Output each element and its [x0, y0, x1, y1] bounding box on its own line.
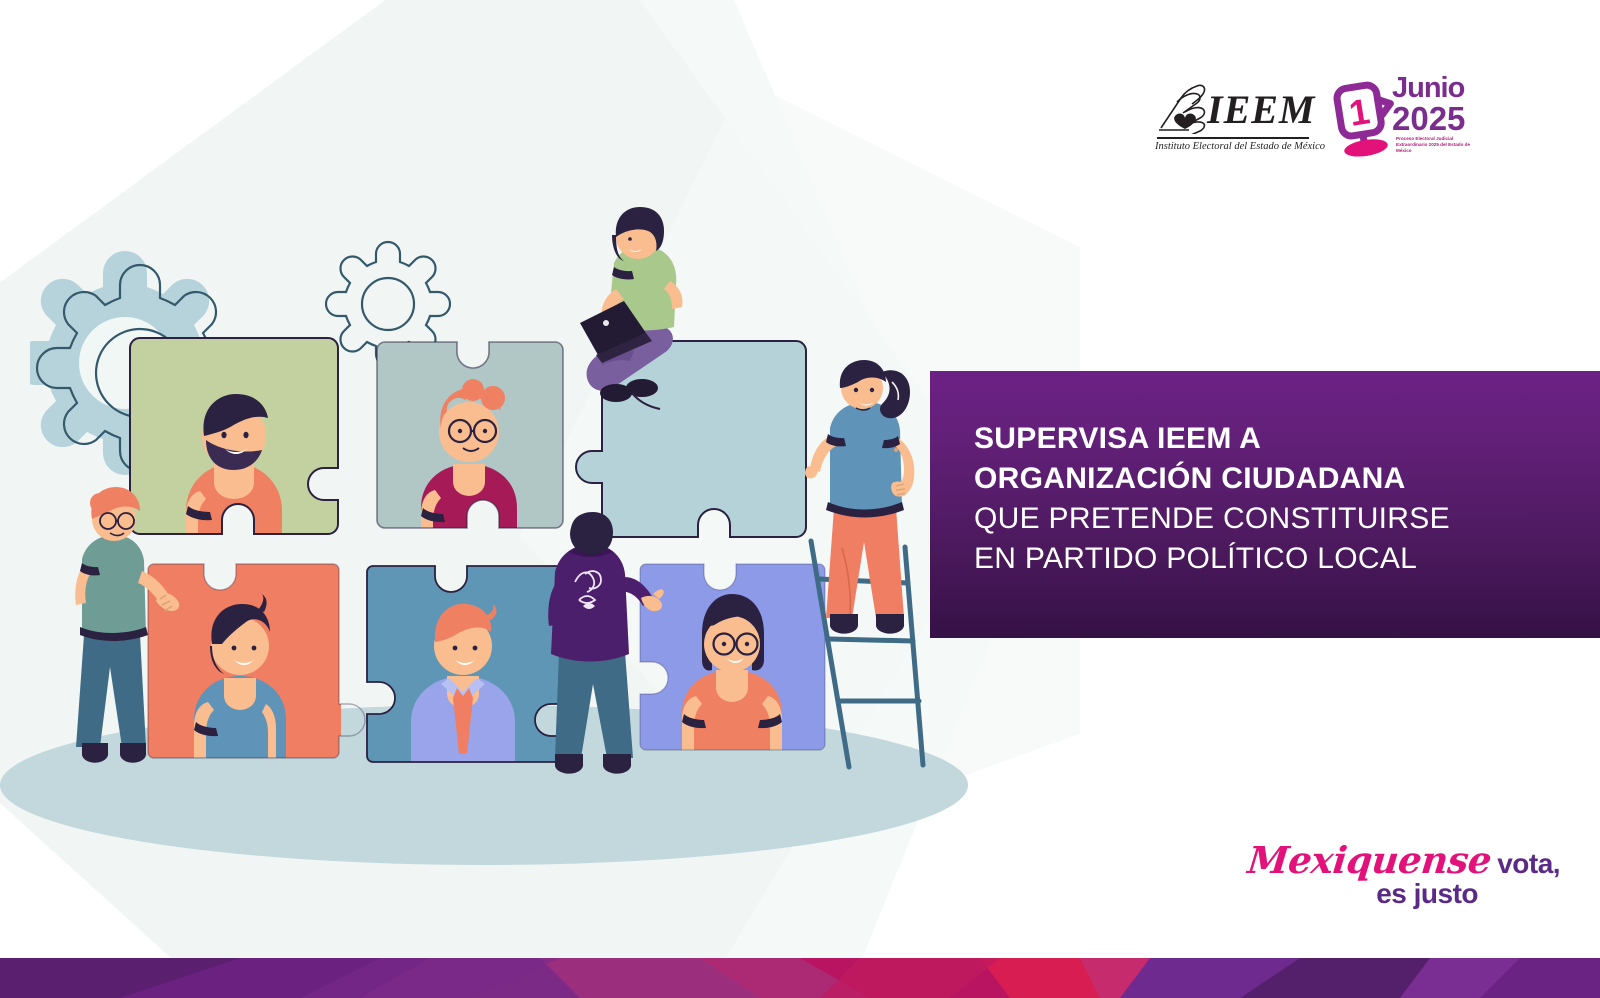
ieem-acronym: IEEM: [1207, 90, 1316, 130]
headline-line-2: ORGANIZACIÓN CIUDADANA: [974, 459, 1600, 499]
character-person-pointing: [535, 512, 675, 782]
slogan-block: Mexiquense vota, es justo: [1248, 841, 1478, 913]
slogan-row-2: es justo: [1248, 879, 1478, 909]
junio-year: 2025: [1392, 103, 1465, 134]
slogan-second-line: es justo: [1376, 878, 1478, 909]
slogan-bold-word: vota,: [1497, 849, 1560, 879]
slogan-script-word: Mexiquense: [1246, 841, 1493, 879]
svg-text:1: 1: [1346, 90, 1372, 134]
headline-panel: SUPERVISA IEEM A ORGANIZACIÓN CIUDADANA …: [930, 371, 1600, 638]
headline-line-3: QUE PRETENDE CONSTITUIRSE: [974, 499, 1600, 539]
slogan-row-1: Mexiquense vota,: [1248, 841, 1478, 879]
ieem-logo: IEEM Instituto Electoral del Estado de M…: [1155, 82, 1315, 162]
headline-line-1: SUPERVISA IEEM A: [974, 419, 1600, 459]
character-person-with-laptop: [570, 205, 710, 450]
junio-2025-badge: 1 Junio 2025 Proceso Electoral Judicial …: [1330, 76, 1480, 162]
ballot-box-icon: 1: [1330, 76, 1396, 160]
junio-month: Junio: [1392, 74, 1465, 103]
ieem-rule: [1157, 137, 1309, 139]
ieem-full-name: Instituto Electoral del Estado de México: [1155, 140, 1315, 153]
banner-canvas: SUPERVISA IEEM A ORGANIZACIÓN CIUDADANA …: [0, 0, 1600, 998]
junio-text: Junio 2025: [1392, 74, 1465, 134]
bottom-gradient-bar: [0, 958, 1600, 998]
headline-line-4: EN PARTIDO POLÍTICO LOCAL: [974, 539, 1600, 579]
character-person-holding-piece: [58, 485, 188, 775]
junio-caption: Proceso Electoral Judicial Extraordinari…: [1396, 136, 1482, 154]
character-woman-on-ladder: [808, 358, 933, 648]
